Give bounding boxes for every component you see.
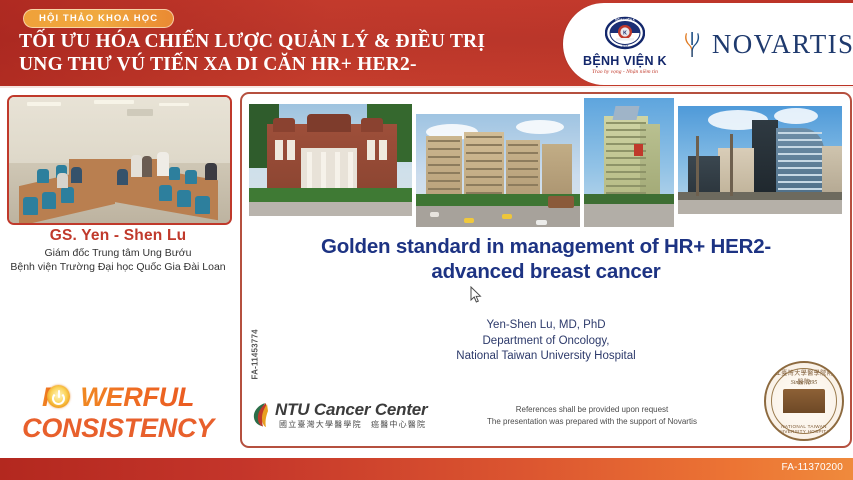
speaker-affiliation: Bệnh viện Trường Đại học Quốc Gia Đài Lo… <box>0 261 236 273</box>
event-type-badge: HỘI THẢO KHOA HỌC <box>23 9 174 28</box>
university-hospital-seal-icon: 國立臺灣大學醫學院附設醫院 Since 1895 NATIONAL TAIWAN… <box>764 361 844 441</box>
slide-authors: Yen-Shen Lu, MD, PhD Department of Oncol… <box>266 318 826 365</box>
novartis-flame-icon <box>681 29 703 59</box>
event-title-line-1: TỐI ƯU HÓA CHIẾN LƯỢC QUẢN LÝ & ĐIỀU TRỊ <box>19 31 485 53</box>
logo-panel: K BỆNH VIỆN K Since BỆNH VIỆN K Trao hy … <box>563 3 853 85</box>
hospital-modern-wing-photo <box>678 106 842 214</box>
slide-title-line-1: Golden standard in management of HR+ HER… <box>266 234 826 259</box>
slide-disclaimer: References shall be provided upon reques… <box>427 404 757 427</box>
author-department: Department of Oncology, <box>266 334 826 350</box>
hospital-logo-tagline: Trao hy vọng - Nhận niềm tin <box>592 69 658 75</box>
event-title-line-2: UNG THƯ VÚ TIẾN XA DI CĂN HR+ HER2- <box>19 54 417 76</box>
hospital-logo-name: BỆNH VIỆN K <box>583 54 667 68</box>
svg-text:Since: Since <box>622 44 629 48</box>
hospital-photo-strip <box>242 94 850 226</box>
svg-text:K: K <box>623 30 627 36</box>
speaker-name: GS. Yen - Shen Lu <box>0 227 236 245</box>
presentation-screen: HỘI THẢO KHOA HỌC TỐI ƯU HÓA CHIẾN LƯỢC … <box>0 0 853 480</box>
hospital-main-complex-photo <box>416 114 580 227</box>
slide-title-line-2: advanced breast cancer <box>266 259 826 284</box>
campaign-slogan-suffix: WERFUL <box>80 382 194 412</box>
campaign-slogan: POWERFUL CONSISTENCY <box>6 382 230 456</box>
disclaimer-line-2: The presentation was prepared with the s… <box>427 416 757 428</box>
ntu-cancer-center-name: NTU Cancer Center <box>275 400 427 420</box>
mouse-pointer-icon <box>470 286 482 304</box>
speaker-panel: GS. Yen - Shen Lu Giám đốc Trung tâm Ung… <box>0 88 236 458</box>
footer-code: FA-11370200 <box>781 462 843 473</box>
footer-bar: FA-11370200 <box>0 458 853 480</box>
seal-building-illustration <box>783 389 825 413</box>
sponsor-logo-name: NOVARTIS <box>712 29 853 60</box>
speaker-photo <box>7 95 232 225</box>
event-header: HỘI THẢO KHOA HỌC TỐI ƯU HÓA CHIẾN LƯỢC … <box>0 0 853 88</box>
sponsor-logo: NOVARTIS <box>681 29 853 60</box>
speaker-role: Giám đốc Trung tâm Ung Bướu <box>0 247 236 259</box>
ntu-swoosh-icon <box>251 401 271 428</box>
seal-english-text: NATIONAL TAIWAN UNIVERSITY HOSPITAL <box>766 424 842 434</box>
hospital-logo: K BỆNH VIỆN K Since BỆNH VIỆN K Trao hy … <box>583 13 667 75</box>
disclaimer-line-1: References shall be provided upon reques… <box>427 404 757 416</box>
slide-content: Golden standard in management of HR+ HER… <box>240 92 852 448</box>
author-institution: National Taiwan University Hospital <box>266 349 826 365</box>
hospital-seal-icon: K BỆNH VIỆN K Since <box>605 13 645 53</box>
conference-room-illustration <box>9 97 230 223</box>
hospital-heritage-building-photo <box>249 104 412 216</box>
campaign-slogan-line-1: POWERFUL <box>6 382 230 413</box>
seal-since-text: Since 1895 <box>766 380 842 386</box>
power-button-icon <box>47 385 70 408</box>
author-name: Yen-Shen Lu, MD, PhD <box>266 318 826 334</box>
ntu-cancer-center-logo: NTU Cancer Center 國立臺灣大學醫學院 癌醫中心醫院 <box>251 400 419 432</box>
slide-vertical-code: FA-11453774 <box>251 314 260 380</box>
hospital-tower-photo <box>584 98 674 227</box>
campaign-slogan-line-2: CONSISTENCY <box>6 413 230 444</box>
ntu-cancer-center-chinese: 國立臺灣大學醫學院 癌醫中心醫院 <box>279 419 426 430</box>
svg-text:BỆNH VIỆN K: BỆNH VIỆN K <box>615 17 636 22</box>
slide-title: Golden standard in management of HR+ HER… <box>266 234 826 284</box>
